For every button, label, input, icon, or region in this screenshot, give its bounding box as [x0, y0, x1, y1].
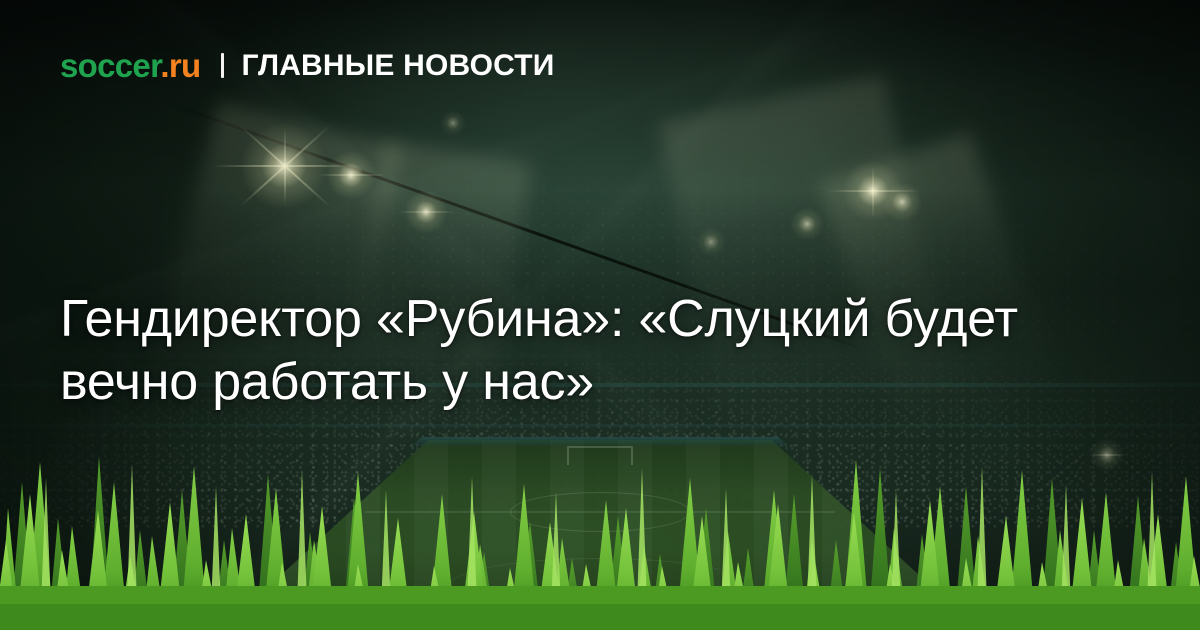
floodlight-sparkle-right	[1090, 438, 1124, 472]
floodlight-flare-3-h	[398, 211, 456, 213]
floodlight-flare-1-d1	[239, 124, 331, 207]
pitch-penalty-arc	[449, 558, 751, 614]
floodlight-lamp-5	[882, 182, 922, 222]
logo-text-ru: .ru	[160, 47, 200, 84]
floodlight-lamp-4	[842, 160, 904, 222]
pitch-goal-far	[567, 446, 633, 465]
floodlight-lamp-7	[696, 227, 726, 257]
floodlight-flare-1-v	[284, 128, 286, 204]
share-card: soccer.ru ГЛАВНЫЕ НОВОСТИ Гендиректор «Р…	[0, 0, 1200, 630]
floodlight-flare-4-h	[828, 190, 920, 192]
floodlight-flare-1-h	[212, 165, 358, 167]
floodlight-flare-4-v	[872, 166, 874, 218]
pitch-perimeter-board	[205, 437, 995, 446]
header-section-label: ГЛАВНЫЕ НОВОСТИ	[241, 51, 554, 81]
floodlight-lamp-6	[790, 207, 824, 241]
floodlight-sparkle-right-flare	[1088, 454, 1128, 456]
floodlight-lamp-8	[440, 110, 466, 136]
site-logo[interactable]: soccer.ru	[60, 49, 200, 82]
floodlight-lamp-2	[326, 150, 376, 200]
logo-text-soccer: soccer	[60, 47, 160, 84]
article-headline: Гендиректор «Рубина»: «Слуцкий будет веч…	[60, 288, 1060, 414]
header-separator	[221, 53, 224, 78]
floodlight-lamp-3	[404, 190, 448, 234]
pitch-halfway-line	[365, 511, 835, 513]
floodlight-flare-2-h	[318, 174, 386, 176]
floodlight-flare-1-d2	[239, 124, 331, 207]
floodlight-lamp-1	[240, 122, 328, 210]
site-header: soccer.ru ГЛАВНЫЕ НОВОСТИ	[60, 49, 555, 82]
